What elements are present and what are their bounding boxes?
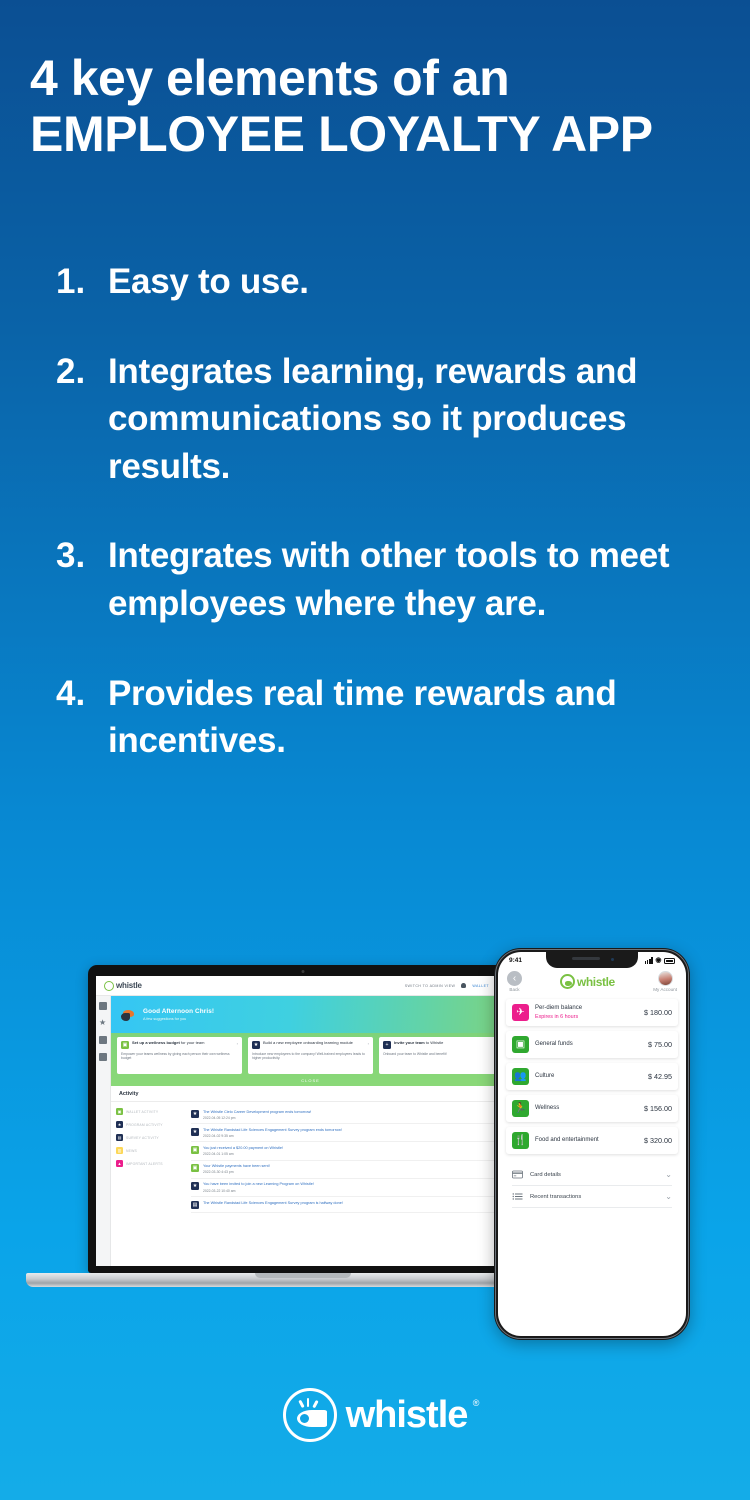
filter-program-activity[interactable]: ★ PROGRAM ACTIVITY — [116, 1121, 184, 1128]
survey-icon: ▤ — [191, 1201, 199, 1209]
wallet-row[interactable]: 🏃 Wellness $ 156.00 — [506, 1095, 678, 1122]
wallet-row[interactable]: 🍴 Food and entertainment $ 320.00 — [506, 1127, 678, 1154]
wallet-row-label: Culture — [535, 1073, 554, 1081]
brand-name: whistle ® — [346, 1394, 468, 1437]
footer-brand: whistle ® — [0, 1388, 750, 1442]
feed-item[interactable]: ▣ Your Whistle payments have been sent! … — [191, 1161, 504, 1179]
feed-item-text: The Whistle Randstad Life Sciences Engag… — [203, 1128, 342, 1133]
web-logo[interactable]: whistle — [104, 981, 142, 991]
phone-mockup: 9:41 ◉ ‹ Back whistle — [494, 948, 690, 1340]
suggestion-card[interactable]: ▣ Set up a wellness budget for your team… — [117, 1037, 242, 1074]
filter-label: NEWS — [126, 1149, 137, 1153]
laptop-mockup: whistle SWITCH TO ADMIN VIEW WALLET ★ — [88, 965, 518, 1273]
wallet-row-label: Food and entertainment — [535, 1137, 599, 1145]
list-item-text: Provides real time rewards and incentive… — [108, 670, 736, 765]
list-item-text: Integrates learning, rewards and communi… — [108, 348, 736, 491]
back-label: Back — [509, 987, 519, 992]
star-icon: ★ — [191, 1110, 199, 1118]
back-button[interactable]: ‹ Back — [507, 971, 522, 992]
wallet-row-label: General funds — [535, 1041, 573, 1049]
card-title-bold: Set up a wellness budget — [132, 1040, 180, 1045]
card-details-label: Card details — [530, 1172, 561, 1178]
wallet-rows: ✈ Per-diem balance Expires in 6 hours $ … — [498, 997, 686, 1154]
filter-label: PROGRAM ACTIVITY — [126, 1123, 163, 1127]
feed-item-text: You just received a $20.00 payment on Wh… — [203, 1146, 283, 1151]
list-item-number: 1. — [56, 258, 108, 306]
news-icon: ▥ — [116, 1147, 123, 1154]
phone-logo: whistle — [560, 974, 614, 989]
wallet-icon: ▣ — [512, 1036, 529, 1053]
feed-item[interactable]: ★ The Whistle Cielo Career Development p… — [191, 1106, 504, 1124]
wallet-icon: ▣ — [191, 1146, 199, 1154]
recent-transactions-label: Recent transactions — [530, 1194, 581, 1200]
airplane-icon: ✈ — [512, 1004, 529, 1021]
wifi-icon: ◉ — [655, 957, 661, 964]
chevron-right-icon: › — [237, 1041, 238, 1046]
survey-icon: ▤ — [116, 1134, 123, 1141]
list-item: 4. Provides real time rewards and incent… — [56, 670, 736, 765]
feed-item[interactable]: ▤ The Whistle Randstad Life Sciences Eng… — [191, 1197, 504, 1213]
star-icon: ★ — [116, 1121, 123, 1128]
feed-item[interactable]: ★ The Whistle Randstad Life Sciences Eng… — [191, 1124, 504, 1142]
card-description: Introduce new employees to the company! … — [252, 1052, 369, 1061]
sidebar-grid-icon[interactable] — [99, 1053, 107, 1061]
list-icon — [512, 1192, 523, 1201]
feed-item-date: 2022-04-02 9:35 am — [203, 1134, 342, 1138]
person-add-icon: + — [383, 1041, 391, 1049]
wallet-row-amount: $ 320.00 — [644, 1136, 672, 1145]
filter-survey-activity[interactable]: ▤ SURVEY ACTIVITY — [116, 1134, 184, 1141]
people-icon: 👥 — [512, 1068, 529, 1085]
list-item-number: 4. — [56, 670, 108, 765]
status-time: 9:41 — [509, 957, 522, 964]
web-topnav: whistle SWITCH TO ADMIN VIEW WALLET — [96, 976, 510, 996]
suggestion-cards: ▣ Set up a wellness budget for your team… — [111, 1033, 510, 1086]
filter-label: WALLET ACTIVITY — [126, 1110, 158, 1114]
my-account-label: My Account — [653, 987, 677, 992]
chevron-right-icon: › — [368, 1041, 369, 1046]
star-icon: ★ — [191, 1128, 199, 1136]
card-title-rest: to Whistle — [425, 1040, 444, 1045]
web-sidebar: ★ — [96, 996, 111, 1266]
wallet-row-amount: $ 156.00 — [644, 1104, 672, 1113]
brand-text: whistle — [346, 1394, 468, 1436]
feed-item-text: Your Whistle payments have been sent! — [203, 1164, 270, 1169]
list-item-number: 2. — [56, 348, 108, 491]
whistle-logo-icon — [104, 981, 114, 991]
card-title-rest: Build a new employee onboarding learning… — [263, 1040, 353, 1045]
feed-item-date: 2022-04-01 1:05 am — [203, 1152, 283, 1156]
key-elements-list: 1. Easy to use. 2. Integrates learning, … — [56, 258, 736, 807]
list-item-text: Easy to use. — [108, 258, 309, 306]
credit-card-icon — [512, 1170, 523, 1179]
feed-item[interactable]: ★ You have been invited to join a new Le… — [191, 1179, 504, 1197]
my-account-button[interactable]: My Account — [653, 971, 677, 992]
laptop-lid: whistle SWITCH TO ADMIN VIEW WALLET ★ — [88, 965, 518, 1273]
headline-line-1: 4 key elements of an — [30, 52, 730, 105]
wallet-icon: ▣ — [191, 1164, 199, 1172]
feed-item-text: The Whistle Cielo Career Development pro… — [203, 1110, 311, 1115]
phone-notch — [546, 952, 638, 968]
chevron-down-icon: ⌄ — [665, 1171, 672, 1179]
recent-transactions-row[interactable]: Recent transactions ⌄ — [512, 1186, 672, 1208]
wallet-row-amount: $ 75.00 — [648, 1040, 672, 1049]
phone-links: Card details ⌄ Recent transactions ⌄ — [498, 1159, 686, 1208]
feed-item[interactable]: ▣ You just received a $20.00 payment on … — [191, 1142, 504, 1160]
wallet-row-sub: Expires in 6 hours — [535, 1014, 582, 1020]
activity-feed: ★ The Whistle Cielo Career Development p… — [189, 1102, 510, 1213]
wallet-row[interactable]: ▣ General funds $ 75.00 — [506, 1031, 678, 1058]
card-description: Empower your teams wellness by giving ea… — [121, 1052, 238, 1061]
filter-news[interactable]: ▥ NEWS — [116, 1147, 184, 1154]
card-title-bold: Invite your team — [394, 1040, 425, 1045]
phone-logo-text: whistle — [577, 975, 615, 989]
filter-label: SURVEY ACTIVITY — [126, 1136, 159, 1140]
card-title-rest: for your team — [180, 1040, 205, 1045]
suggestion-card[interactable]: ★ Build a new employee onboarding learni… — [248, 1037, 373, 1074]
speaker-icon — [572, 957, 600, 960]
feed-item-date: 2022-03-30 4:43 pm — [203, 1170, 270, 1174]
card-description: Onboard your team to Whistle and benefit… — [383, 1052, 500, 1056]
filter-label: IMPORTANT ALERTS — [126, 1162, 163, 1166]
chevron-down-icon: ⌄ — [665, 1193, 672, 1201]
wallet-row[interactable]: 👥 Culture $ 42.95 — [506, 1063, 678, 1090]
list-item: 2. Integrates learning, rewards and comm… — [56, 348, 736, 491]
laptop-screen: whistle SWITCH TO ADMIN VIEW WALLET ★ — [96, 976, 510, 1266]
greeting-subtitle: A few suggestions for you — [143, 1017, 214, 1021]
star-icon: ★ — [191, 1182, 199, 1190]
list-item-text: Integrates with other tools to meet empl… — [108, 532, 736, 627]
laptop-camera-icon — [302, 970, 305, 973]
alert-icon: ▲ — [116, 1160, 123, 1167]
bird-mascot-icon — [121, 1007, 136, 1022]
activity-filters: ▣ WALLET ACTIVITY ★ PROGRAM ACTIVITY ▤ S… — [111, 1102, 189, 1213]
wallet-row-amount: $ 180.00 — [644, 1008, 672, 1017]
battery-icon — [664, 958, 675, 964]
web-logo-text: whistle — [116, 981, 142, 990]
feed-item-date: 2022-04-05 12:24 pm — [203, 1116, 311, 1120]
star-icon: ★ — [252, 1041, 260, 1049]
switch-admin-view-link[interactable]: SWITCH TO ADMIN VIEW — [405, 984, 456, 988]
back-arrow-icon: ‹ — [507, 971, 522, 986]
wallet-row[interactable]: ✈ Per-diem balance Expires in 6 hours $ … — [506, 999, 678, 1026]
feed-item-text: The Whistle Randstad Life Sciences Engag… — [203, 1201, 343, 1206]
sidebar-star-icon[interactable]: ★ — [99, 1019, 107, 1027]
wallet-row-label: Per-diem balance — [535, 1005, 582, 1013]
greeting-title: Good Afternoon Chris! — [143, 1008, 214, 1015]
wallet-row-label: Wellness — [535, 1105, 559, 1113]
sidebar-list-icon[interactable] — [99, 1002, 107, 1010]
feed-item-date: 2022-03-22 10:40 am — [203, 1189, 314, 1193]
whistle-logo-icon — [283, 1388, 337, 1442]
list-item-number: 3. — [56, 532, 108, 627]
activity-title: Activity — [111, 1086, 510, 1102]
wallet-link[interactable]: WALLET — [472, 984, 489, 988]
phone-screen: 9:41 ◉ ‹ Back whistle — [498, 952, 686, 1336]
runner-icon: 🏃 — [512, 1100, 529, 1117]
phone-nav: ‹ Back whistle My Account — [498, 968, 686, 997]
suggestion-card[interactable]: + Invite your team to Whistle Onboard yo… — [379, 1037, 504, 1074]
card-details-row[interactable]: Card details ⌄ — [512, 1164, 672, 1186]
filter-wallet-activity[interactable]: ▣ WALLET ACTIVITY — [116, 1108, 184, 1115]
list-item: 1. Easy to use. — [56, 258, 736, 306]
close-button[interactable]: CLOSE — [117, 1074, 504, 1086]
filter-important-alerts[interactable]: ▲ IMPORTANT ALERTS — [116, 1160, 184, 1167]
wallet-icon: ▣ — [121, 1041, 129, 1049]
registered-mark: ® — [473, 1398, 479, 1408]
food-icon: 🍴 — [512, 1132, 529, 1149]
greeting-banner: Good Afternoon Chris! A few suggestions … — [111, 996, 510, 1033]
page-title: 4 key elements of an EMPLOYEE LOYALTY AP… — [30, 52, 730, 163]
feed-item-text: You have been invited to join a new Lear… — [203, 1182, 314, 1187]
signal-icon — [645, 957, 653, 963]
avatar — [658, 971, 673, 986]
whistle-logo-icon — [560, 974, 575, 989]
sidebar-book-icon[interactable] — [99, 1036, 107, 1044]
device-mockups: whistle SWITCH TO ADMIN VIEW WALLET ★ — [0, 930, 750, 1360]
wallet-icon: ▣ — [116, 1108, 123, 1115]
headline-line-2: EMPLOYEE LOYALTY APP — [30, 105, 730, 163]
list-item: 3. Integrates with other tools to meet e… — [56, 532, 736, 627]
wallet-row-amount: $ 42.95 — [648, 1072, 672, 1081]
front-camera-icon — [611, 958, 615, 962]
person-icon — [461, 983, 466, 988]
